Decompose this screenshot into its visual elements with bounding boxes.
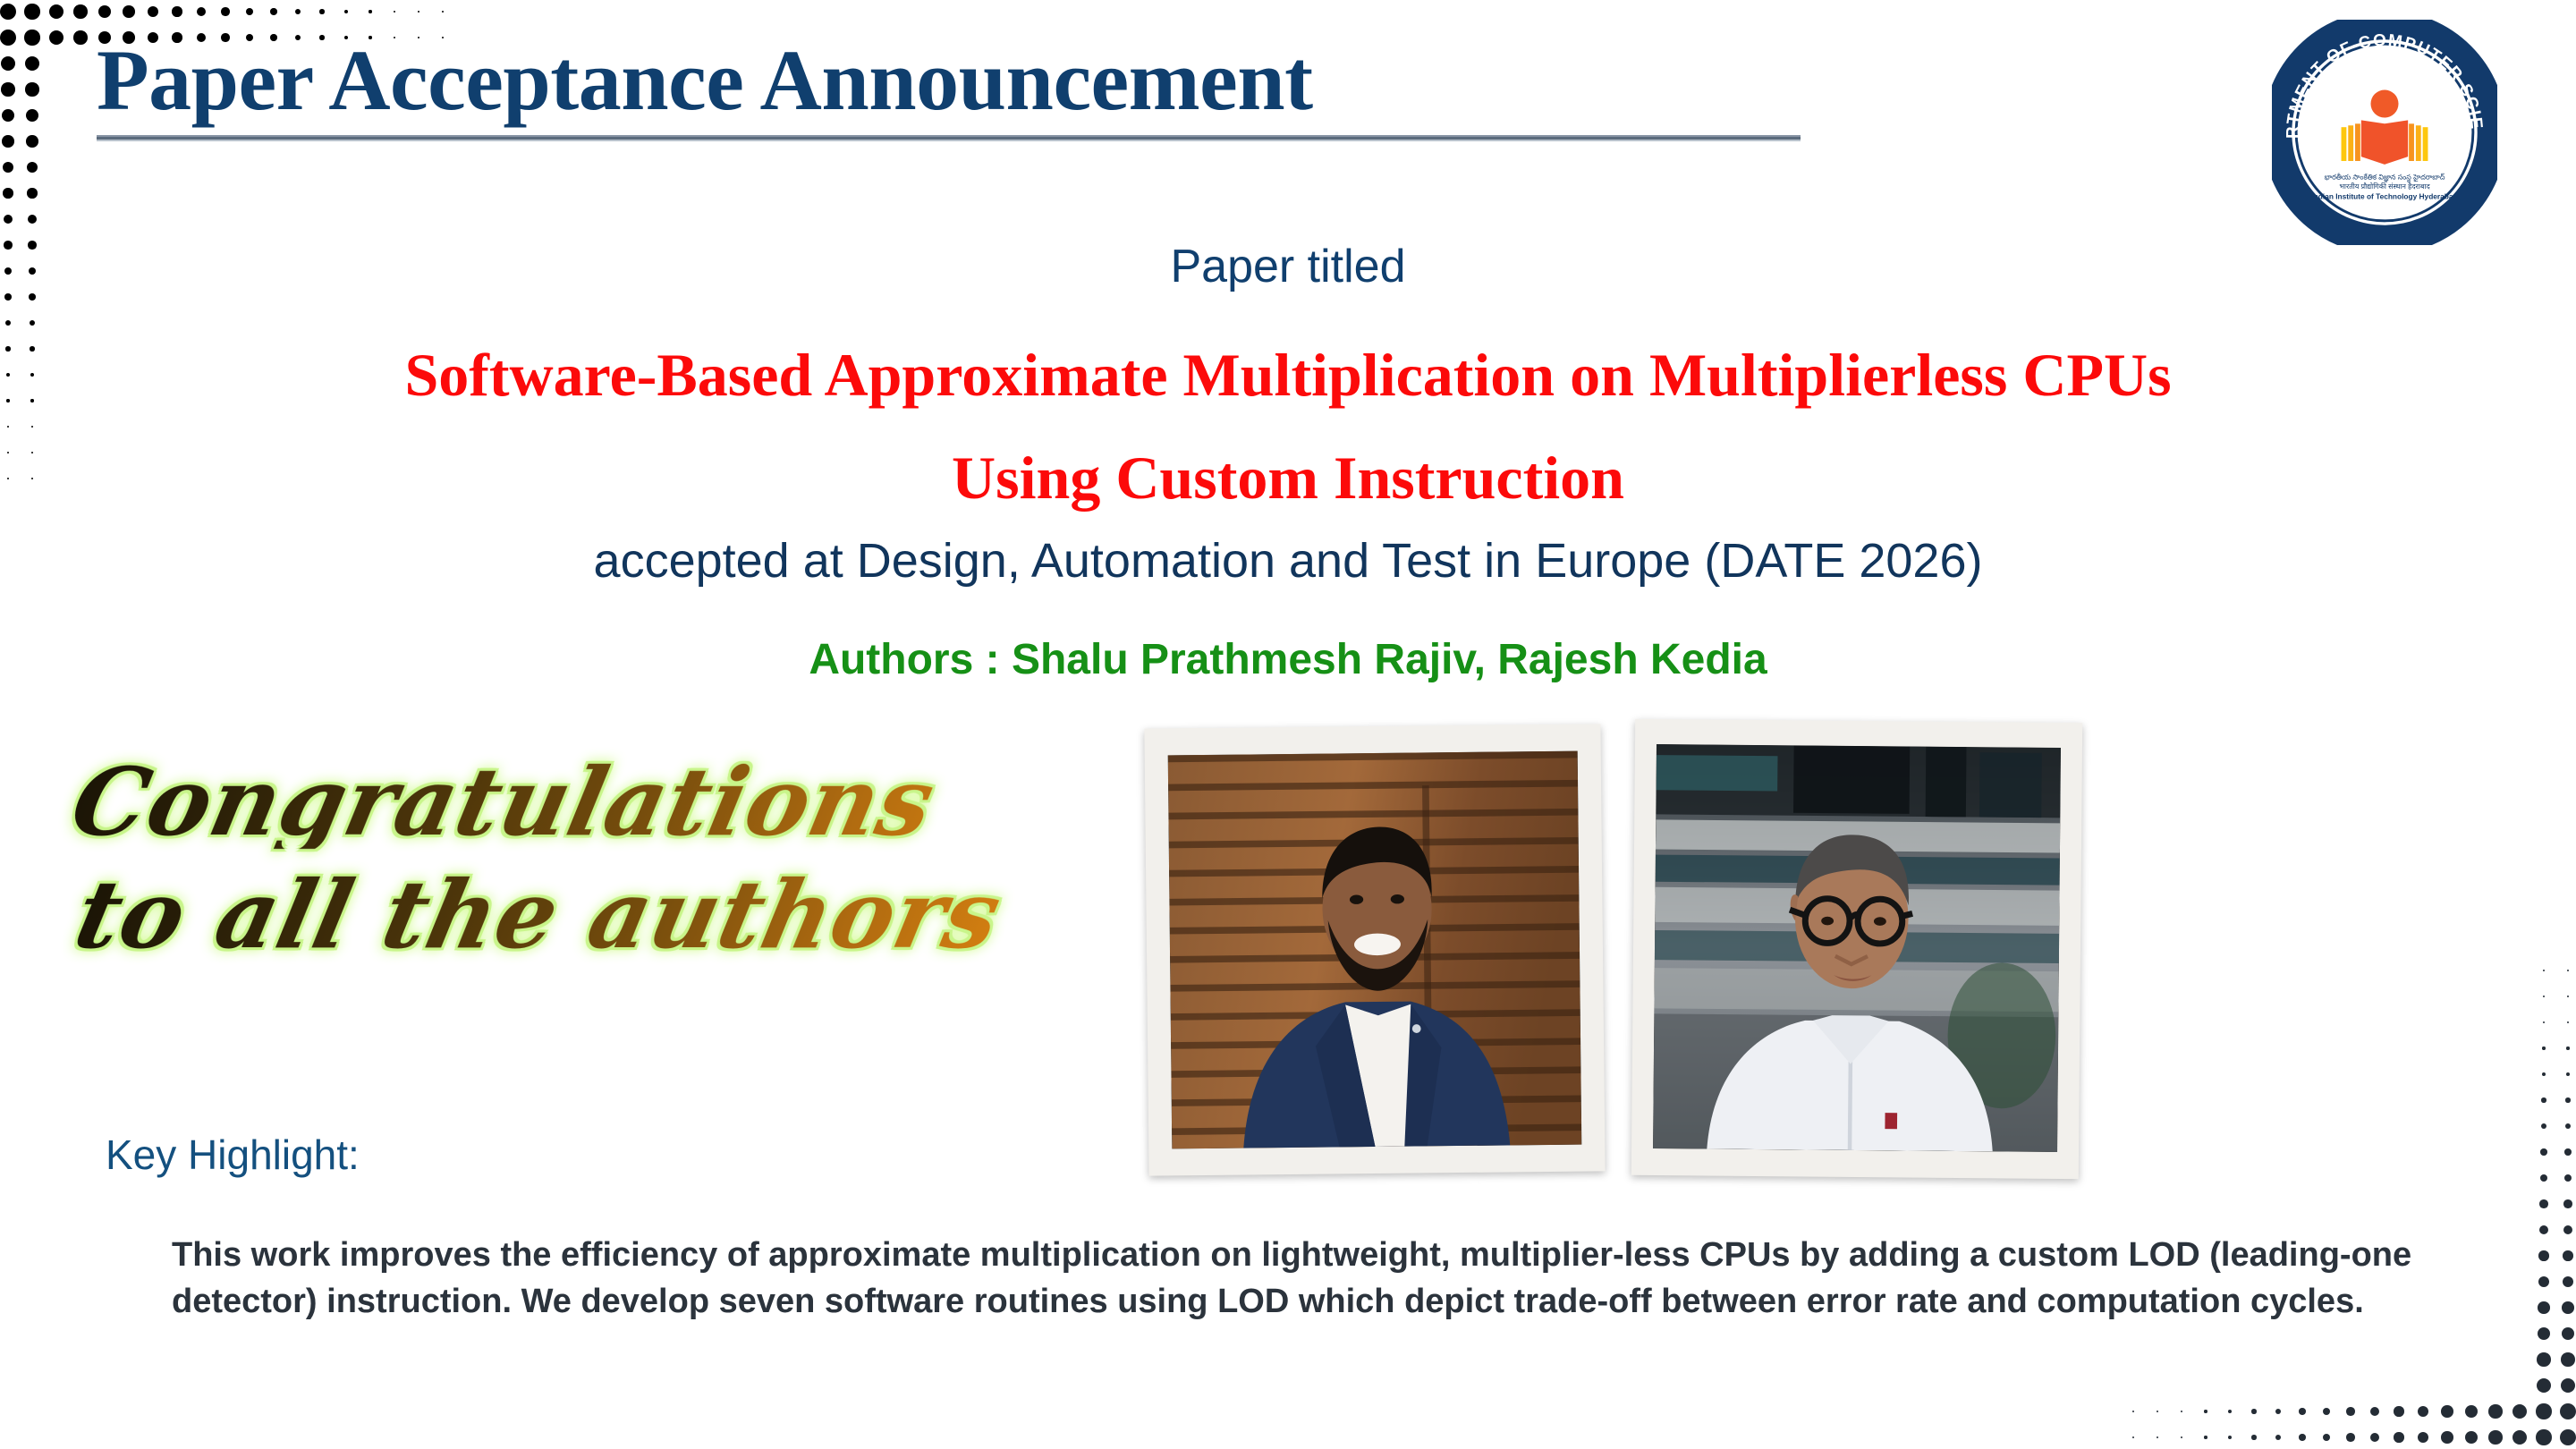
key-highlight-label: Key Highlight: (106, 1131, 360, 1179)
decorative-dot (2566, 1072, 2570, 1076)
decorative-dot (49, 30, 64, 45)
decorative-dot (2540, 1174, 2547, 1182)
decorative-dot (2561, 1378, 2575, 1393)
congratulations-wordart: Congratulations to all the authors (64, 756, 1013, 962)
decorative-dot (2538, 1301, 2549, 1313)
decorative-dot (26, 109, 38, 122)
decorative-dot (418, 11, 419, 13)
decorative-dot (2251, 1409, 2256, 1413)
decorative-dot (2299, 1434, 2305, 1440)
decorative-dot (2536, 1403, 2551, 1419)
decorative-dot (2441, 1431, 2453, 1443)
decorative-dot (31, 426, 33, 428)
decorative-dot (246, 8, 253, 15)
decorative-dot (2563, 1199, 2572, 1207)
decorative-dot (2567, 1021, 2569, 1023)
decorative-dot (5, 320, 11, 326)
decorative-dot (26, 135, 38, 147)
decorative-dot (2540, 1148, 2546, 1155)
decorative-dot (2565, 1123, 2571, 1129)
decorative-dot (2418, 1406, 2428, 1417)
decorative-dot (2561, 1352, 2574, 1366)
author-photo-shalu-prathmesh-rajiv (1144, 724, 1605, 1175)
decorative-dot (2512, 1430, 2527, 1445)
decorative-dot (27, 188, 37, 198)
decorative-dot (28, 215, 37, 224)
decorative-dot (221, 7, 229, 15)
decorative-dot (73, 30, 87, 44)
decorative-dot (394, 11, 395, 13)
decorative-dot (2563, 1225, 2572, 1234)
header-block: Paper Acceptance Announcement (97, 36, 1814, 141)
author-photo-rajesh-kedia (1631, 719, 2082, 1179)
decorative-dot (2488, 1430, 2502, 1444)
decorative-dot (2567, 970, 2569, 971)
decorative-dot (2562, 1327, 2574, 1340)
decorative-dot (172, 6, 182, 16)
decorative-dot (2275, 1409, 2281, 1414)
decorative-dot (2542, 1072, 2546, 1076)
decorative-dot (2560, 1403, 2576, 1419)
decorative-dot (2536, 1429, 2551, 1445)
decorative-dot (2542, 1046, 2545, 1049)
decorative-dot (2562, 1301, 2573, 1313)
decorative-dot (0, 4, 16, 20)
decorative-dot (2204, 1410, 2207, 1412)
decorative-dot (2538, 1276, 2549, 1287)
decorative-dot (29, 293, 35, 300)
paper-titled-label: Paper titled (0, 240, 2576, 293)
decorative-dot (2543, 970, 2545, 971)
decorative-dot (2512, 1404, 2527, 1419)
decorative-dot (2132, 1411, 2134, 1412)
decorative-dot (24, 30, 39, 45)
authors-line: Authors : Shalu Prathmesh Rajiv, Rajesh … (0, 635, 2576, 684)
paper-title-line-2: Using Custom Instruction (0, 443, 2576, 513)
decorative-dot (2132, 1436, 2134, 1438)
photo-image-area (1168, 751, 1582, 1149)
congratulations-line-2: to all the authors (68, 869, 1032, 962)
decorative-dot (98, 5, 111, 18)
decorative-dot (2275, 1435, 2281, 1440)
decorative-dot (344, 10, 348, 13)
decorative-dot (2564, 1174, 2572, 1182)
decorative-dot (2565, 1097, 2570, 1102)
decorative-dot (2465, 1405, 2478, 1418)
iith-cse-department-seal-logo: DEPARTMENT OF COMPUTER SCIENCE & ENGINEE… (2272, 20, 2497, 245)
decorative-dot (2560, 1429, 2576, 1445)
decorative-dot (2157, 1411, 2158, 1412)
decorative-dot (25, 82, 38, 96)
decorative-dot (2394, 1432, 2403, 1442)
congratulations-line-1: Congratulations (64, 756, 1032, 849)
decorative-dot (2370, 1433, 2379, 1442)
paper-title-line-1: Software-Based Approximate Multiplicatio… (0, 340, 2576, 411)
decorative-dot (2537, 1378, 2551, 1393)
decorative-dot (30, 320, 35, 326)
page-title: Paper Acceptance Announcement (97, 36, 1814, 126)
decorative-dot (4, 215, 13, 224)
decorative-dot (25, 56, 39, 71)
decorative-dot (2, 135, 13, 147)
decorative-dot (2181, 1436, 2182, 1438)
decorative-dot (2, 109, 14, 122)
decorative-dot (3, 162, 13, 173)
decorative-dot (1, 82, 14, 96)
photo-image-area (1653, 744, 2061, 1152)
decorative-dot (3, 188, 13, 198)
decorative-dot (2563, 1250, 2572, 1260)
decorative-dot (49, 4, 64, 19)
decorative-dot (2563, 1276, 2573, 1287)
decorative-dot (2564, 1148, 2571, 1155)
logo-institute-english: Indian Institute of Technology Hyderabad (2311, 192, 2457, 201)
decorative-dot (369, 10, 371, 13)
decorative-dot (2323, 1408, 2330, 1415)
decorative-dot (2539, 1199, 2547, 1207)
decorative-dot (2441, 1405, 2453, 1417)
decorative-dot (2346, 1433, 2354, 1441)
decorative-dot (2346, 1407, 2354, 1415)
decorative-dot (2370, 1407, 2379, 1416)
decorative-dot (24, 4, 39, 19)
decorative-dot (2541, 1097, 2546, 1102)
decorative-dot (2251, 1435, 2256, 1439)
decorative-dot (7, 426, 9, 428)
decorative-dot (197, 7, 206, 16)
decorative-dot (2204, 1436, 2207, 1438)
decorative-dot (2543, 996, 2545, 997)
decorative-dot (2181, 1411, 2182, 1412)
decorative-dot (2465, 1431, 2478, 1444)
decorative-dot (2566, 1046, 2569, 1049)
decorative-dot (2543, 1021, 2545, 1023)
decorative-dot (2539, 1225, 2548, 1234)
logo-institute-hindi: भारतीय प्रौद्योगिकी संस्थान हैदराबाद (2339, 182, 2430, 191)
decorative-dot (2538, 1327, 2550, 1340)
decorative-dot (295, 9, 301, 14)
decorative-dot (2541, 1123, 2546, 1129)
decorative-dot (2418, 1432, 2428, 1443)
decorative-dot (2299, 1408, 2305, 1414)
decorative-dot (0, 30, 16, 46)
decorative-dot (270, 8, 276, 14)
decorative-dot (2228, 1410, 2232, 1413)
decorative-dot (123, 5, 134, 17)
title-divider-rule (97, 135, 1801, 141)
decorative-dot (2567, 996, 2569, 997)
decorative-dot (2228, 1436, 2232, 1439)
decorative-dot (2157, 1436, 2158, 1438)
decorative-dot (148, 6, 158, 17)
decorative-dot (2323, 1434, 2330, 1441)
decorative-dot (4, 293, 11, 300)
decorative-dot (2538, 1250, 2548, 1260)
decorative-dot (73, 4, 87, 18)
decorative-dot (442, 11, 444, 13)
key-highlight-body: This work improves the efficiency of app… (172, 1233, 2444, 1325)
decorative-dot (2488, 1404, 2502, 1418)
conference-venue-line: accepted at Design, Automation and Test … (0, 533, 2576, 589)
decorative-dot (319, 9, 324, 13)
decorative-dot (1, 56, 15, 71)
decorative-dot (2394, 1406, 2403, 1416)
decorative-dot (27, 162, 38, 173)
decorative-dot (2537, 1352, 2550, 1366)
